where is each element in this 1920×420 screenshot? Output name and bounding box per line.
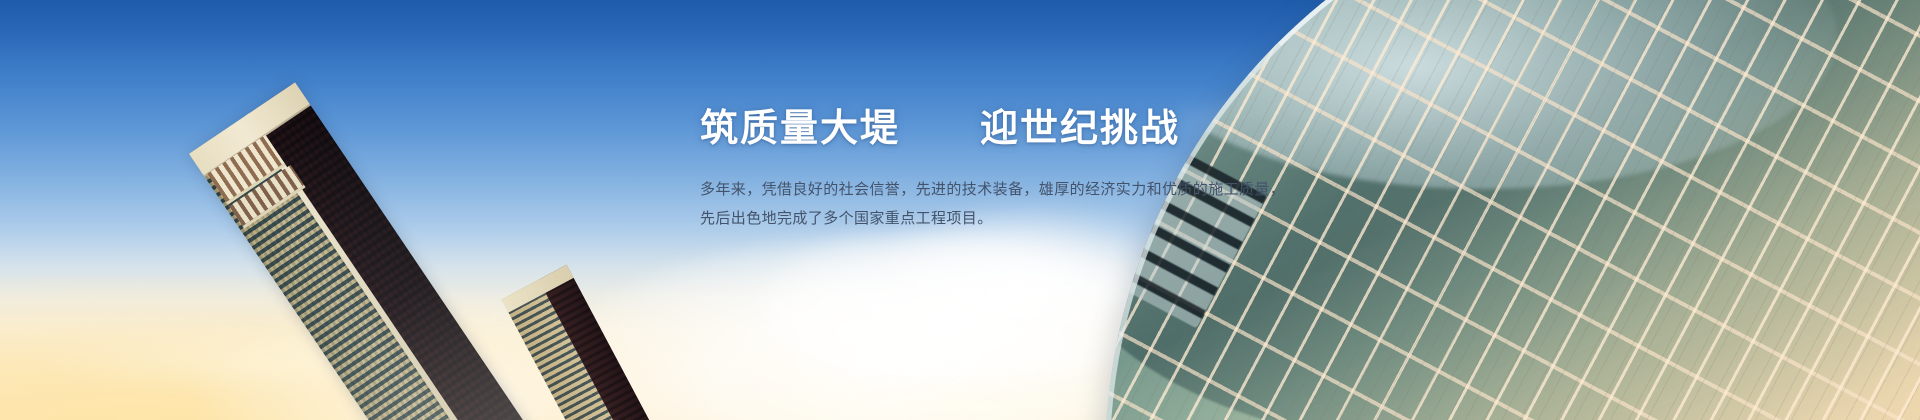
banner-subtitle-line-1: 多年来，凭借良好的社会信誉，先进的技术装备，雄厚的经济实力和优质的施工质量， xyxy=(700,175,1260,204)
banner-subtitle: 多年来，凭借良好的社会信誉，先进的技术装备，雄厚的经济实力和优质的施工质量， 先… xyxy=(700,175,1260,234)
hero-banner: 筑质量大堤 迎世纪挑战 多年来，凭借良好的社会信誉，先进的技术装备，雄厚的经济实… xyxy=(0,0,1920,420)
banner-headline: 筑质量大堤 迎世纪挑战 xyxy=(700,106,1260,151)
banner-copy: 筑质量大堤 迎世纪挑战 多年来，凭借良好的社会信誉，先进的技术装备，雄厚的经济实… xyxy=(700,106,1260,233)
banner-subtitle-line-2: 先后出色地完成了多个国家重点工程项目。 xyxy=(700,204,1260,233)
